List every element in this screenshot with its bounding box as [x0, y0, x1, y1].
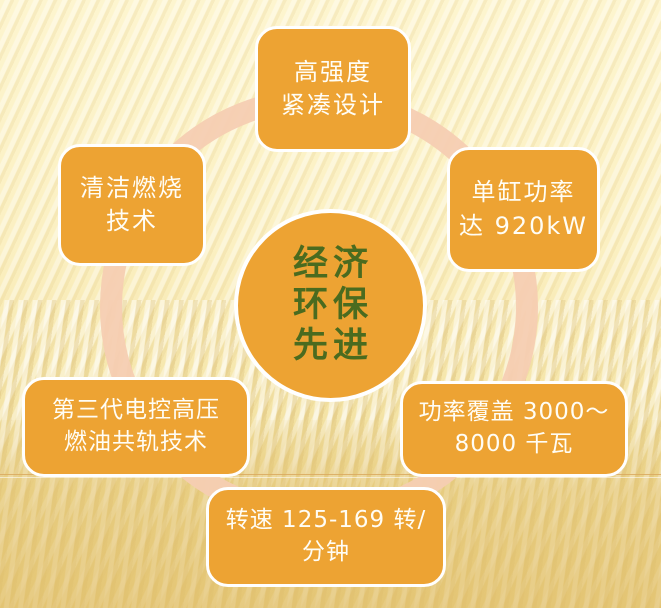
- feature-line-2: 达 920kW: [459, 210, 588, 243]
- center-line-3: 先进: [288, 326, 373, 367]
- feature-line-1: 清洁燃烧: [80, 172, 184, 205]
- slide-canvas: 经济 环保 先进 高强度 紧凑设计 清洁燃烧 技术 单缸功率 达 920kW 第…: [0, 0, 661, 608]
- feature-high-strength-compact-design[interactable]: 高强度 紧凑设计: [255, 26, 411, 152]
- feature-line-1: 转速 125-169 转/: [226, 505, 426, 537]
- feature-line-2: 技术: [106, 205, 158, 238]
- feature-third-gen-common-rail[interactable]: 第三代电控高压 燃油共轨技术: [22, 377, 250, 477]
- feature-line-2: 燃油共轨技术: [64, 427, 208, 459]
- feature-line-1: 高强度: [294, 56, 372, 89]
- feature-line-2: 8000 千瓦: [455, 429, 574, 461]
- feature-line-1: 单缸功率: [472, 176, 576, 209]
- feature-line-2: 紧凑设计: [281, 89, 385, 122]
- center-highlight-circle: 经济 环保 先进: [234, 209, 427, 402]
- feature-rotation-speed[interactable]: 转速 125-169 转/ 分钟: [206, 487, 446, 587]
- center-line-2: 环保: [288, 285, 373, 326]
- feature-single-cylinder-power[interactable]: 单缸功率 达 920kW: [447, 147, 600, 272]
- feature-power-coverage-range[interactable]: 功率覆盖 3000～ 8000 千瓦: [400, 381, 628, 477]
- feature-line-1: 功率覆盖 3000～: [419, 397, 610, 429]
- center-line-1: 经济: [288, 244, 373, 285]
- feature-line-1: 第三代电控高压: [52, 395, 220, 427]
- feature-clean-combustion-technology[interactable]: 清洁燃烧 技术: [58, 144, 206, 266]
- feature-line-2: 分钟: [302, 537, 350, 569]
